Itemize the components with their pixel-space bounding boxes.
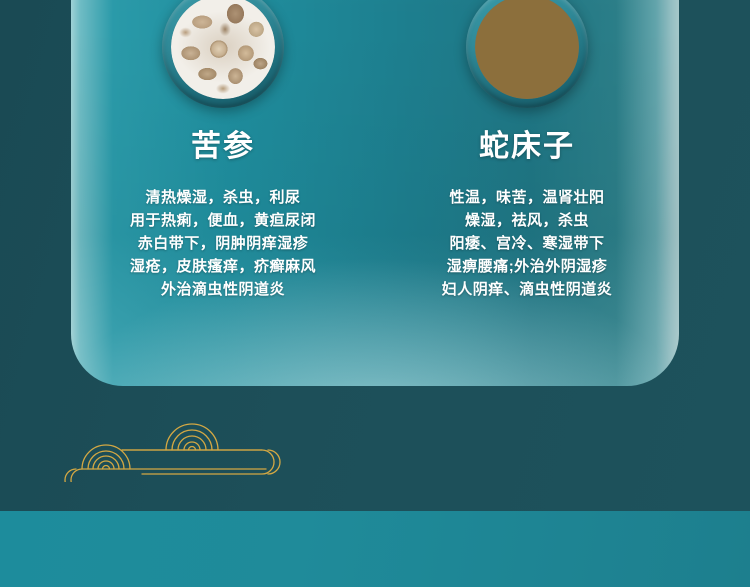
herb-columns: 苦参 清热燥湿，杀虫，利尿 用于热痢，便血，黄疸尿闭 赤白带下，阴肿阴痒湿疹 湿… (71, 0, 679, 386)
description-line: 阳痿、宫冷、寒湿带下 (442, 232, 613, 255)
description-line: 用于热痢，便血，黄疸尿闭 (130, 209, 316, 232)
description-line: 妇人阴痒、滴虫性阴道炎 (442, 278, 613, 301)
herb-photo-shechuangzi[interactable] (466, 0, 588, 108)
description-line: 外治滴虫性阴道炎 (130, 278, 316, 301)
herb-description-kushen: 清热燥湿，杀虫，利尿 用于热痢，便血，黄疸尿闭 赤白带下，阴肿阴痒湿疹 湿疮，皮… (130, 186, 316, 301)
white-dish-rim (475, 0, 579, 99)
herb-photo-kushen[interactable] (162, 0, 284, 108)
product-detail-page: 苦参 清热燥湿，杀虫，利尿 用于热痢，便血，黄疸尿闭 赤白带下，阴肿阴痒湿疹 湿… (0, 0, 750, 587)
photo-clip (171, 0, 275, 99)
auspicious-cloud-icon (30, 392, 330, 482)
herb-column-kushen: 苦参 清热燥湿，杀虫，利尿 用于热痢，便血，黄疸尿闭 赤白带下，阴肿阴痒湿疹 湿… (71, 0, 375, 386)
photo-clip (475, 0, 579, 99)
herb-column-shechuangzi: 蛇床子 性温，味苦，温肾壮阳 燥湿，祛风，杀虫 阳痿、宫冷、寒湿带下 湿痹腰痛;… (375, 0, 679, 386)
description-line: 燥湿，祛风，杀虫 (442, 209, 613, 232)
herb-title-kushen: 苦参 (191, 132, 255, 162)
description-line: 赤白带下，阴肿阴痒湿疹 (130, 232, 316, 255)
description-line: 性温，味苦，温肾壮阳 (442, 186, 613, 209)
herb-description-shechuangzi: 性温，味苦，温肾壮阳 燥湿，祛风，杀虫 阳痿、宫冷、寒湿带下 湿痹腰痛;外治外阴… (442, 186, 613, 301)
description-line: 湿痹腰痛;外治外阴湿疹 (442, 255, 613, 278)
herb-title-shechuangzi: 蛇床子 (479, 132, 575, 162)
dried-sliced-root-photo (171, 0, 275, 99)
description-line: 清热燥湿，杀虫，利尿 (130, 186, 316, 209)
description-line: 湿疮，皮肤瘙痒，疥癣麻风 (130, 255, 316, 278)
background-lower-band (0, 511, 750, 587)
